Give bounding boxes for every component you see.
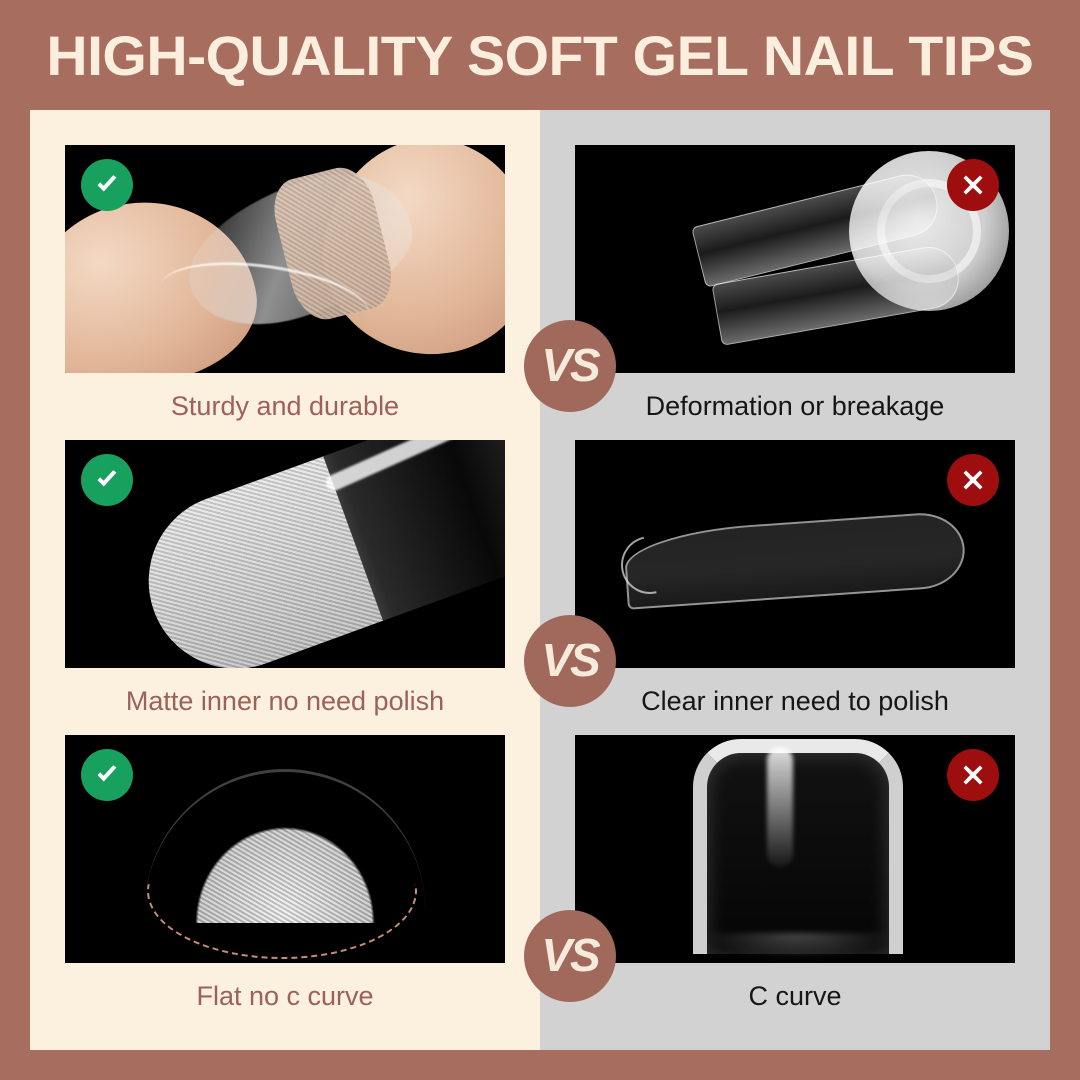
cross-icon — [947, 454, 999, 506]
good-photo-3 — [65, 735, 505, 963]
good-photo-2 — [65, 440, 505, 668]
vs-badge-2: VS — [524, 615, 616, 707]
check-icon — [81, 749, 133, 801]
bad-caption-2: Clear inner need to polish — [575, 668, 1015, 734]
vs-label: VS — [541, 932, 598, 978]
check-icon — [81, 454, 133, 506]
bad-caption-3: C curve — [575, 963, 1015, 1029]
good-cell-3: Flat no c curve — [65, 735, 505, 1035]
good-cell-2: Matte inner no need polish — [65, 440, 505, 740]
good-caption-3: Flat no c curve — [65, 963, 505, 1029]
vs-label: VS — [541, 342, 598, 388]
bad-photo-1 — [575, 145, 1015, 373]
infographic-root: HIGH-QUALITY SOFT GEL NAIL TIPS — [0, 0, 1080, 1080]
good-caption-1: Sturdy and durable — [65, 373, 505, 439]
title-bar: HIGH-QUALITY SOFT GEL NAIL TIPS — [0, 0, 1080, 110]
check-icon — [81, 159, 133, 211]
bad-cell-2: Clear inner need to polish — [575, 440, 1015, 740]
page-title: HIGH-QUALITY SOFT GEL NAIL TIPS — [46, 23, 1033, 88]
vs-label: VS — [541, 637, 598, 683]
bad-cell-3: C curve — [575, 735, 1015, 1035]
bad-photo-3 — [575, 735, 1015, 963]
bad-panel: Deformation or breakage — [540, 110, 1050, 1050]
good-panel: Sturdy and durable — [30, 110, 540, 1050]
good-photo-1 — [65, 145, 505, 373]
vs-badge-1: VS — [524, 320, 616, 412]
cross-icon — [947, 749, 999, 801]
bad-photo-2 — [575, 440, 1015, 668]
cross-icon — [947, 159, 999, 211]
good-cell-1: Sturdy and durable — [65, 145, 505, 445]
comparison-panels: Sturdy and durable — [30, 110, 1050, 1050]
good-caption-2: Matte inner no need polish — [65, 668, 505, 734]
vs-badge-3: VS — [524, 910, 616, 1002]
bad-caption-1: Deformation or breakage — [575, 373, 1015, 439]
bad-cell-1: Deformation or breakage — [575, 145, 1015, 445]
